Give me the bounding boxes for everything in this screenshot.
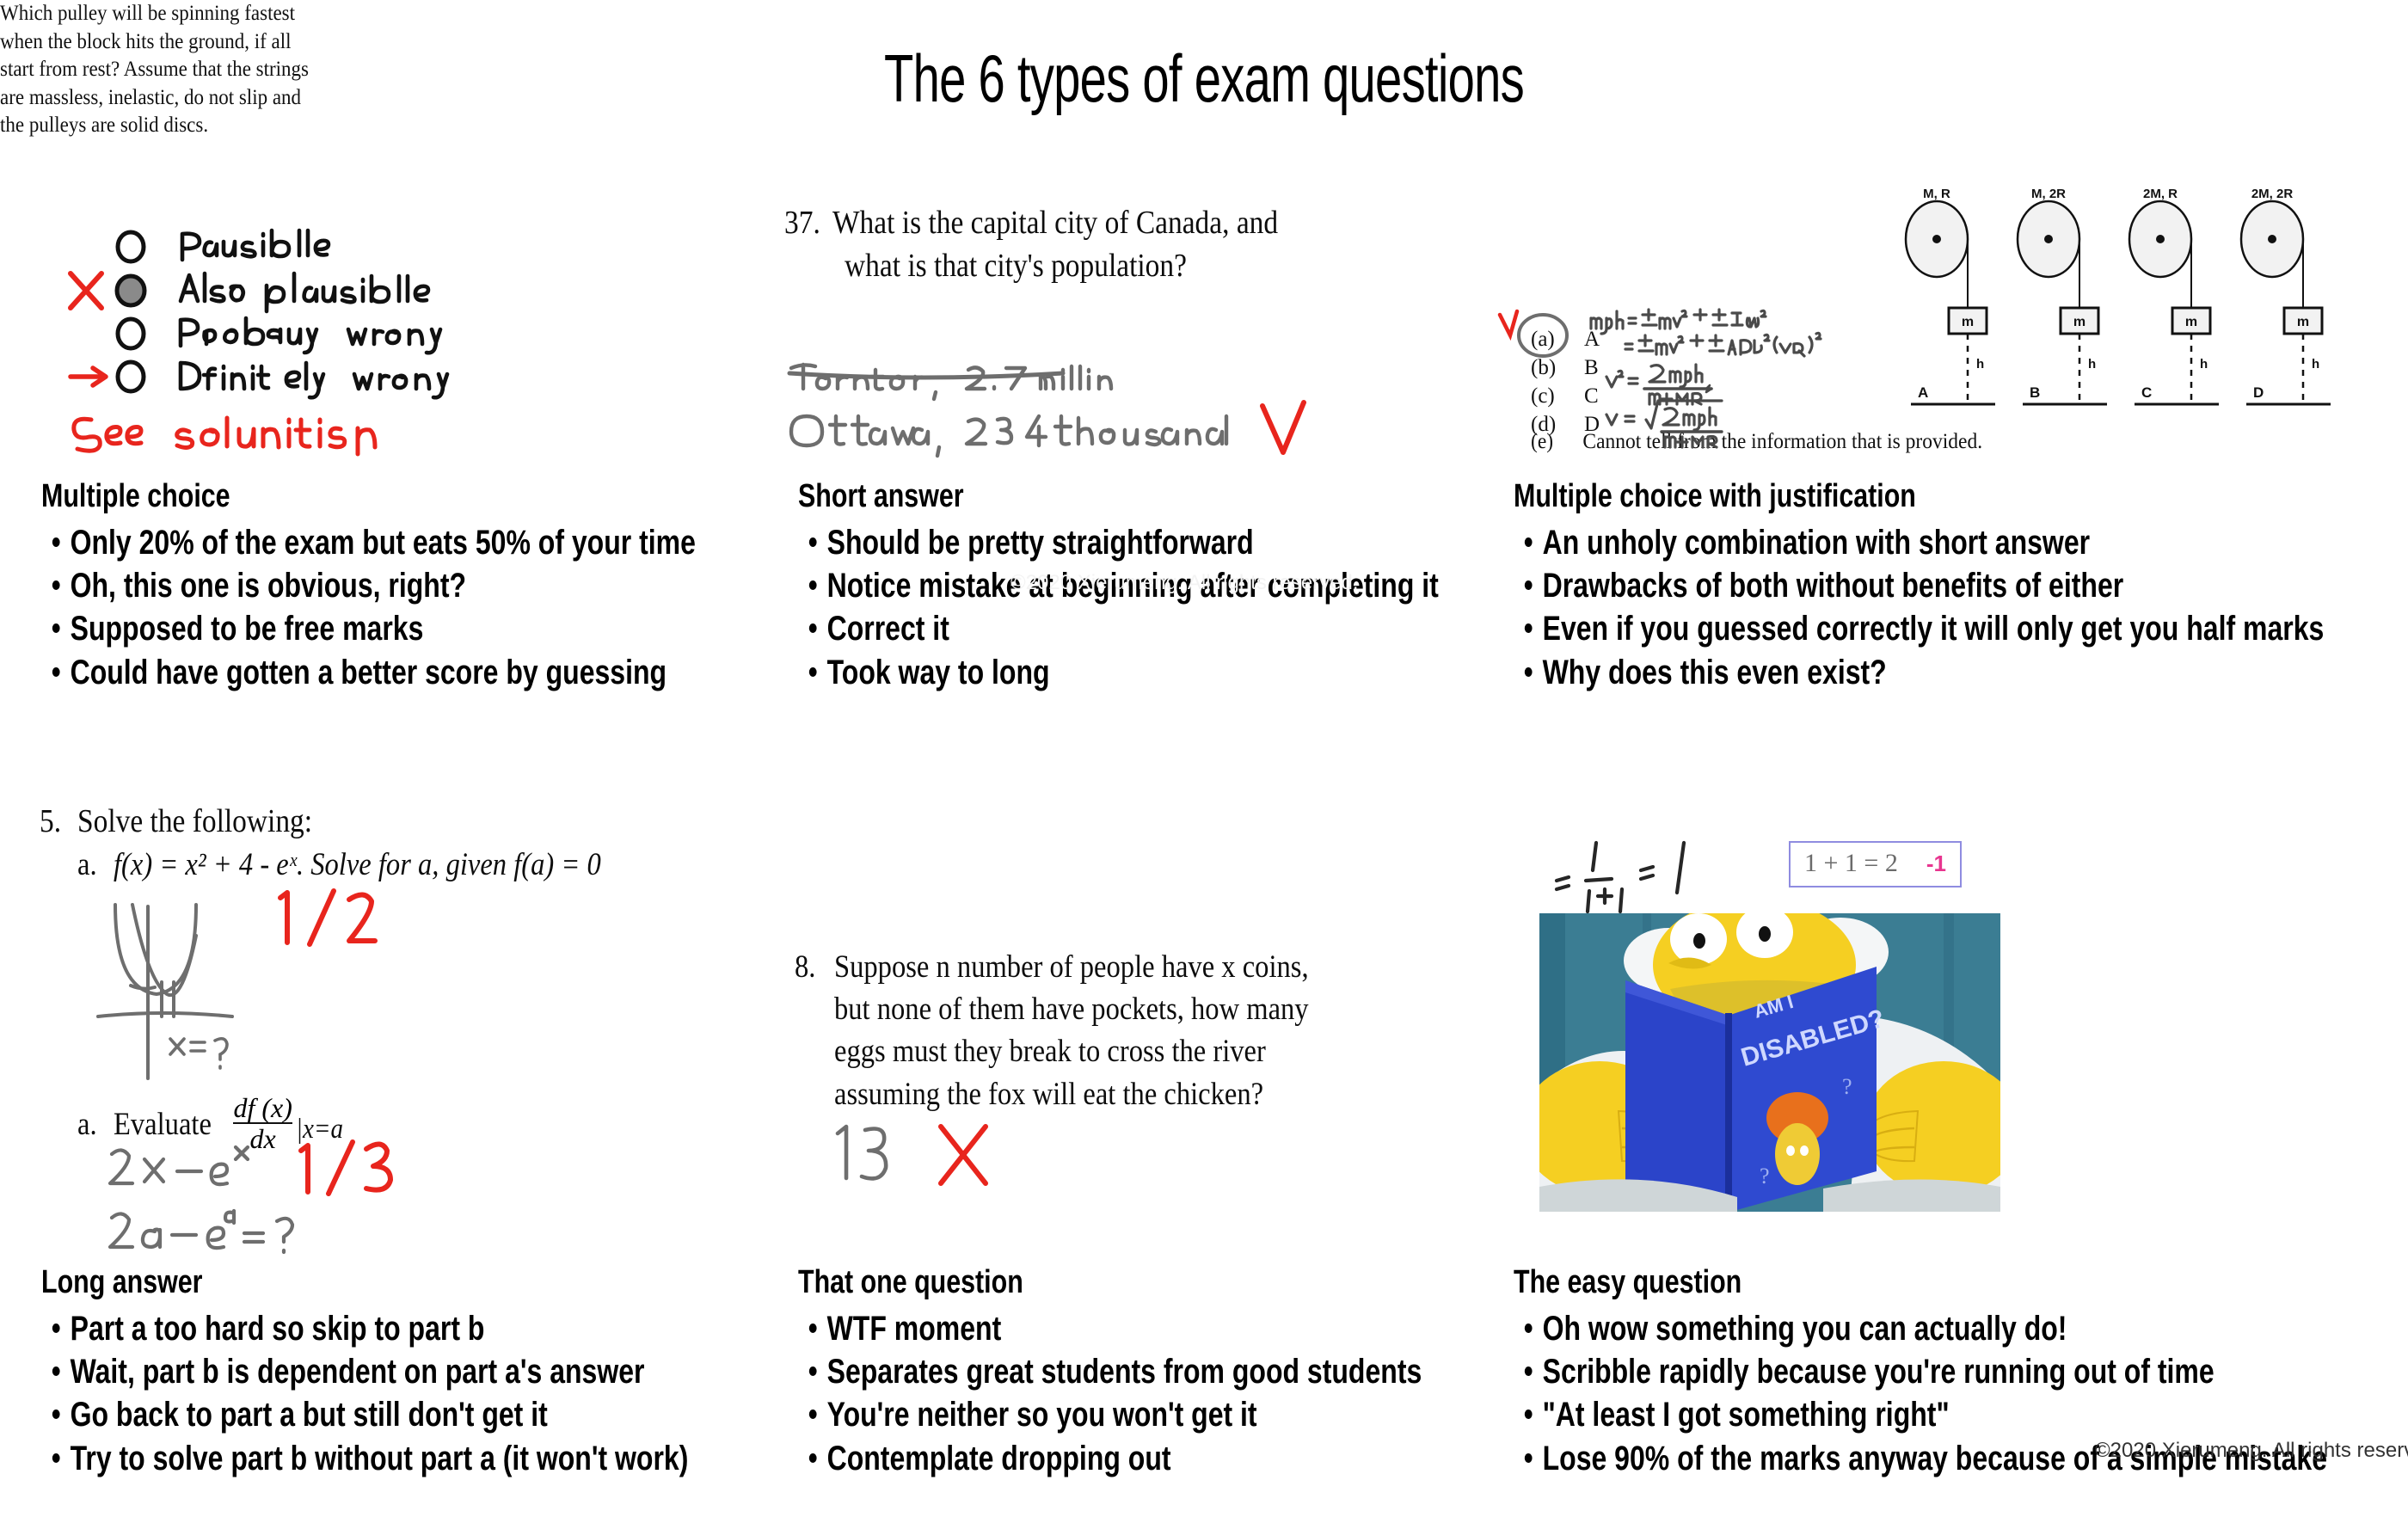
list-item: You're neither so you won't get it xyxy=(798,1393,1422,1436)
grader-score-part-a xyxy=(280,891,375,944)
derivative-numerator: df (x) xyxy=(233,1094,292,1122)
list-item: Wait, part b is dependent on part a's an… xyxy=(41,1350,688,1393)
floor-label: C xyxy=(2141,384,2152,401)
list-item: Contemplate dropping out xyxy=(798,1437,1422,1480)
pulley-spec-label: 2M, R xyxy=(2143,187,2178,201)
grader-x-mark xyxy=(71,273,101,308)
question-line: Which pulley will be spinning fastest xyxy=(0,0,372,28)
pulley-diagram: M, R M, 2R 2M, R 2M, 2R m h A m h xyxy=(1899,182,2380,445)
grader-check-mark xyxy=(1262,402,1304,452)
watermark-bottom: ©2020 Xierumeng. All rights reserved. xyxy=(2095,1439,2408,1463)
bullet-list-that-one-question: WTF moment Separates great students from… xyxy=(798,1307,1578,1481)
list-item: Correct it xyxy=(798,607,1439,650)
exam-sample-long-answer: 5. Solve the following: a. f(x) = x² + 4… xyxy=(40,800,667,886)
grader-annotation-box: 1 + 1 = 2 -1 xyxy=(1789,841,1962,887)
panel-heading-short-answer: Short answer xyxy=(798,478,1439,516)
height-label: h xyxy=(2088,357,2096,372)
part-label: a. xyxy=(77,1106,109,1143)
bullet-list-long-answer: Part a too hard so skip to part b Wait, … xyxy=(41,1307,850,1481)
question-line: assuming the fox will eat the chicken? xyxy=(834,1073,1309,1115)
grader-arrow xyxy=(71,368,106,385)
exam-sample-short-answer: 37. What is the capital city of Canada, … xyxy=(784,201,1339,287)
panel-heading-that-one-question: That one question xyxy=(798,1264,1422,1302)
question-number: 5. xyxy=(40,800,73,844)
pulley-spec-label: 2M, 2R xyxy=(2251,187,2294,201)
panel-heading-mc-justification: Multiple choice with justification xyxy=(1514,478,2324,516)
panel-heading-easy-question: The easy question xyxy=(1514,1264,2327,1302)
answer-and-mark-svg xyxy=(826,1118,1049,1213)
exam-sample-that-one-question: 8. Suppose n number of people have x coi… xyxy=(795,946,1373,1115)
list-item: Took way to long xyxy=(798,651,1439,694)
floor-label: D xyxy=(2253,384,2264,401)
panel-heading-long-answer: Long answer xyxy=(41,1264,688,1302)
panel-heading-multiple-choice: Multiple choice xyxy=(41,478,696,516)
svg-text:?: ? xyxy=(1760,1164,1770,1188)
question-text: Solve the following: xyxy=(77,800,312,844)
list-item: Scribble rapidly because you're running … xyxy=(1514,1350,2327,1393)
question-line: the pulleys are solid discs. xyxy=(0,112,372,140)
part-text: f(x) = x² + 4 - eˣ. Solve for a, given f… xyxy=(114,844,601,887)
handwritten-work-svg xyxy=(1496,303,1909,458)
question-line: are massless, inelastic, do not slip and xyxy=(0,84,372,113)
floor-label: A xyxy=(1918,384,1928,401)
simpsons-illustration-svg: AM I DISABLED? ? ? xyxy=(1539,913,2000,1212)
block-label: m xyxy=(1962,315,1974,329)
floor-label: B xyxy=(2030,384,2040,401)
list-item: Only 20% of the exam but eats 50% of you… xyxy=(41,521,696,564)
block-label: m xyxy=(2073,315,2085,329)
list-item: "At least I got something right" xyxy=(1514,1393,2327,1436)
part-label: a. xyxy=(77,844,109,887)
physics-question-text: Which pulley will be spinning fastest wh… xyxy=(0,0,372,140)
handwritten-that-one-answer xyxy=(826,1118,1049,1217)
list-item: Even if you guessed correctly it will on… xyxy=(1514,607,2324,650)
derivative-work-svg xyxy=(107,1135,468,1256)
list-item: Try to solve part b without part a (it w… xyxy=(41,1437,688,1480)
question-line: start from rest? Assume that the strings xyxy=(0,56,372,84)
question-number: 37. xyxy=(784,201,826,287)
pulley-spec-label: M, 2R xyxy=(2031,187,2066,201)
pulley-diagram-svg: M, R M, 2R 2M, R 2M, 2R m h A m h xyxy=(1899,182,2380,440)
handwritten-multiple-choice-svg xyxy=(52,206,499,464)
panel-multiple-choice: Multiple choice Only 20% of the exam but… xyxy=(41,478,859,694)
handwritten-derivative-work xyxy=(107,1135,468,1260)
panel-that-one-question: That one question WTF moment Separates g… xyxy=(798,1264,1578,1480)
height-label: h xyxy=(2312,357,2319,372)
page-title: The 6 types of exam questions xyxy=(337,40,2071,118)
panel-multiple-choice-justification: Multiple choice with justification An un… xyxy=(1514,478,2408,694)
question-line: when the block hits the ground, if all xyxy=(0,28,372,57)
panel-long-answer: Long answer Part a too hard so skip to p… xyxy=(41,1264,850,1480)
question-number: 8. xyxy=(795,946,829,1115)
question-line: but none of them have pockets, how many xyxy=(834,988,1309,1030)
height-label: h xyxy=(1976,357,1984,372)
grader-box-text: 1 + 1 = 2 xyxy=(1804,849,1898,877)
height-label: h xyxy=(2200,357,2208,372)
list-item: WTF moment xyxy=(798,1307,1422,1350)
handwritten-long-answer-graph xyxy=(95,886,473,1088)
grader-comment xyxy=(74,418,375,454)
list-item: Why does this even exist? xyxy=(1514,651,2324,694)
list-item: Could have gotten a better score by gues… xyxy=(41,651,696,694)
handwritten-short-answer xyxy=(784,344,1335,469)
bullet-list-mc-justification: An unholy combination with short answer … xyxy=(1514,521,2408,695)
svg-text:?: ? xyxy=(1842,1074,1852,1099)
list-item: Oh wow something you can actually do! xyxy=(1514,1307,2327,1350)
handwritten-answer-svg xyxy=(784,344,1335,464)
list-item: Oh, this one is obvious, right? xyxy=(41,564,696,607)
list-item: Part a too hard so skip to part b xyxy=(41,1307,688,1350)
simpsons-meme-image: AM I DISABLED? ? ? xyxy=(1539,913,2000,1212)
question-line: What is the capital city of Canada, and xyxy=(832,201,1278,244)
grader-x-mark xyxy=(941,1127,986,1183)
list-item: Drawbacks of both without benefits of ei… xyxy=(1514,564,2324,607)
graph-sketch-svg xyxy=(95,886,473,1084)
question-line: Suppose n number of people have x coins, xyxy=(834,946,1309,988)
grader-score-part-b xyxy=(301,1142,390,1194)
list-item: An unholy combination with short answer xyxy=(1514,521,2324,564)
bullet-list-short-answer: Should be pretty straightforward Notice … xyxy=(798,521,1599,695)
question-line: what is that city's population? xyxy=(845,244,1280,287)
pulley-spec-label: M, R xyxy=(1923,187,1950,201)
bullet-list-multiple-choice: Only 20% of the exam but eats 50% of you… xyxy=(41,521,859,695)
handwritten-physics-work xyxy=(1496,303,1909,462)
block-label: m xyxy=(2185,315,2197,329)
list-item: Go back to part a but still don't get it xyxy=(41,1393,688,1436)
block-label: m xyxy=(2297,315,2309,329)
watermark-top: ©2020 Xierumeng. All rights reserved. xyxy=(1010,571,1359,595)
list-item: Separates great students from good stude… xyxy=(798,1350,1422,1393)
list-item: Supposed to be free marks xyxy=(41,607,696,650)
grader-box-mark: -1 xyxy=(1926,851,1946,876)
question-line: eggs must they break to cross the river xyxy=(834,1030,1309,1072)
list-item: Should be pretty straightforward xyxy=(798,521,1439,564)
exam-sample-multiple-choice xyxy=(52,206,499,464)
